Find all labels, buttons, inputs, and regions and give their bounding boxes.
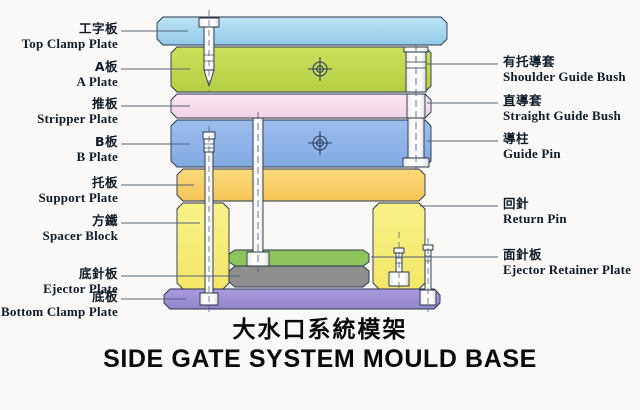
- label-guide-pin-en: Guide Pin: [503, 146, 561, 161]
- page-title-en: SIDE GATE SYSTEM MOULD BASE: [0, 344, 640, 374]
- part-ejector-plate: [229, 266, 369, 287]
- label-bottom-clamp-plate: 底板 Bottom Clamp Plate: [0, 290, 118, 319]
- label-top-clamp-plate-en: Top Clamp Plate: [0, 36, 118, 51]
- label-return-pin-en: Return Pin: [503, 211, 567, 226]
- label-spacer-block-en: Spacer Block: [0, 228, 118, 243]
- label-ejector-plate-cn: 底針板: [0, 267, 118, 281]
- label-top-clamp-plate-cn: 工字板: [0, 22, 118, 36]
- label-a-plate: A板 A Plate: [0, 60, 118, 89]
- label-return-pin: 回針 Return Pin: [503, 197, 567, 226]
- label-ejector-retainer-plate: 面針板 Ejector Retainer Plate: [503, 248, 631, 277]
- label-spacer-block: 方鐵 Spacer Block: [0, 214, 118, 243]
- label-a-plate-en: A Plate: [0, 74, 118, 89]
- label-stripper-plate-cn: 推板: [0, 97, 118, 111]
- label-spacer-block-cn: 方鐵: [0, 214, 118, 228]
- label-b-plate-en: B Plate: [0, 149, 118, 164]
- label-support-plate: 托板 Support Plate: [0, 176, 118, 205]
- label-stripper-plate: 推板 Stripper Plate: [0, 97, 118, 126]
- label-support-plate-en: Support Plate: [0, 190, 118, 205]
- diagram-canvas: 工字板 Top Clamp Plate A板 A Plate 推板 Stripp…: [0, 0, 640, 410]
- label-return-pin-cn: 回針: [503, 197, 567, 211]
- label-straight-guide-bush-en: Straight Guide Bush: [503, 108, 621, 123]
- label-top-clamp-plate: 工字板 Top Clamp Plate: [0, 22, 118, 51]
- label-guide-pin-cn: 導柱: [503, 132, 561, 146]
- label-straight-guide-bush-cn: 直導套: [503, 94, 621, 108]
- label-shoulder-guide-bush: 有托導套 Shoulder Guide Bush: [503, 55, 626, 84]
- label-support-plate-cn: 托板: [0, 176, 118, 190]
- label-bottom-clamp-plate-cn: 底板: [0, 290, 118, 304]
- label-b-plate-cn: B板: [0, 135, 118, 149]
- page-title-cn: 大水口系統模架: [0, 316, 640, 344]
- label-shoulder-guide-bush-en: Shoulder Guide Bush: [503, 69, 626, 84]
- label-stripper-plate-en: Stripper Plate: [0, 111, 118, 126]
- label-b-plate: B板 B Plate: [0, 135, 118, 164]
- label-ejector-retainer-plate-cn: 面針板: [503, 248, 631, 262]
- page-title: 大水口系統模架 SIDE GATE SYSTEM MOULD BASE: [0, 316, 640, 374]
- label-shoulder-guide-bush-cn: 有托導套: [503, 55, 626, 69]
- label-ejector-retainer-plate-en: Ejector Retainer Plate: [503, 262, 631, 277]
- label-a-plate-cn: A板: [0, 60, 118, 74]
- part-support-plate: [177, 169, 425, 201]
- label-straight-guide-bush: 直導套 Straight Guide Bush: [503, 94, 621, 123]
- part-stripper-plate: [171, 94, 431, 118]
- label-guide-pin: 導柱 Guide Pin: [503, 132, 561, 161]
